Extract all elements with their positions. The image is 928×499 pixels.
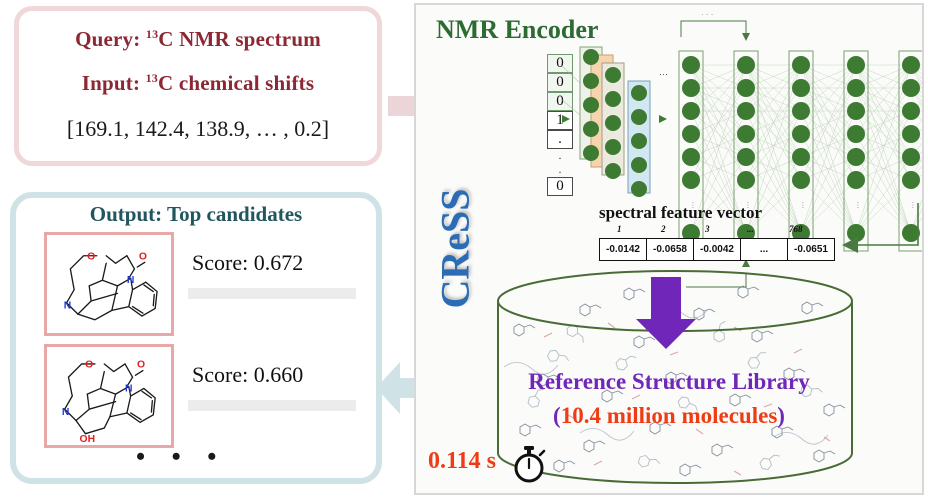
fv-value-3: -0.0042 — [694, 239, 741, 261]
stopwatch-icon — [508, 443, 550, 485]
svg-text:O: O — [87, 252, 95, 263]
query-line-shifts: Input: 13C chemical shifts — [19, 71, 377, 96]
molecule-diagram-2: O O N N OH — [47, 347, 171, 445]
fv-value-2: -0.0658 — [647, 239, 694, 261]
query-prefix: Query: — [75, 27, 146, 51]
svg-text:O: O — [137, 360, 145, 371]
query-suffix: C NMR spectrum — [158, 27, 321, 51]
input-suffix: C chemical shifts — [158, 71, 314, 95]
query-line-spectrum: Query: 13C NMR spectrum — [19, 27, 377, 52]
fv-value-1: -0.0142 — [600, 239, 647, 261]
svg-text:···: ··· — [586, 122, 592, 128]
score-bar-2 — [188, 400, 356, 411]
chemical-shift-values: [169.1, 142.4, 138.9, … , 0.2] — [19, 116, 377, 142]
paren-open: ( — [553, 403, 561, 428]
candidate-score-1: Score: 0.672 — [192, 250, 303, 276]
fv-value-ellipsis: ... — [741, 239, 788, 261]
figure-root: Query: 13C NMR spectrum Input: 13C chemi… — [0, 0, 928, 499]
library-subtitle: (10.4 million molecules) — [416, 403, 922, 429]
query-input-box: Query: 13C NMR spectrum Input: 13C chemi… — [14, 6, 382, 166]
fv-index-3: 3 — [705, 224, 710, 234]
candidate-structure-2[interactable]: O O N N OH — [44, 344, 174, 448]
feature-vector-feed-arrow-icon — [834, 201, 920, 263]
isotope-superscript: 13 — [146, 27, 158, 41]
svg-text:OH: OH — [80, 434, 96, 445]
feature-vector-table: -0.0142 -0.0658 -0.0042 ... -0.0651 — [599, 238, 835, 261]
svg-text:···: ··· — [608, 140, 614, 146]
molecule-count: 10.4 million molecules — [561, 403, 778, 428]
candidate-score-2: Score: 0.660 — [192, 362, 303, 388]
candidate-structure-1[interactable]: O O N N — [44, 232, 174, 336]
fv-index-1: 1 — [617, 224, 622, 234]
timing-label: 0.114 s — [428, 448, 496, 475]
network-dots-label: · · · — [701, 10, 713, 19]
output-candidates-box: Output: Top candidates — [10, 192, 382, 484]
output-title: Output: Top candidates — [16, 202, 376, 227]
more-candidates-indicator: • • • — [136, 442, 226, 472]
svg-text:···: ··· — [659, 69, 668, 79]
isotope-superscript-2: 13 — [146, 71, 158, 85]
svg-text:N: N — [125, 383, 132, 394]
fv-value-768: -0.0651 — [788, 239, 835, 261]
svg-text:O: O — [139, 252, 147, 263]
library-title: Reference Structure Library — [416, 369, 922, 395]
score-bar-1 — [188, 288, 356, 299]
table-row: -0.0142 -0.0658 -0.0042 ... -0.0651 — [600, 239, 835, 261]
molecule-diagram-1: O O N N — [47, 235, 171, 333]
svg-text:···: ··· — [799, 202, 806, 209]
input-prefix: Input: — [82, 71, 146, 95]
svg-text:N: N — [64, 301, 71, 312]
feature-vector-index-row: 1 2 3 ... 768 — [599, 224, 835, 237]
svg-text:O: O — [85, 360, 93, 371]
feature-vector-label: spectral feature vector — [599, 203, 762, 223]
svg-text:N: N — [127, 275, 134, 286]
paren-close: ) — [777, 403, 785, 428]
encoder-panel: NMR Encoder CReSS 0 0 0 1 . . . 0 — [414, 3, 924, 495]
fv-index-2: 2 — [661, 224, 666, 234]
fv-index-ellipsis: ... — [747, 224, 754, 234]
retrieval-arrow-icon — [634, 277, 698, 351]
fv-index-768: 768 — [789, 224, 803, 234]
svg-text:N: N — [62, 407, 69, 418]
svg-text:···: ··· — [634, 160, 640, 166]
